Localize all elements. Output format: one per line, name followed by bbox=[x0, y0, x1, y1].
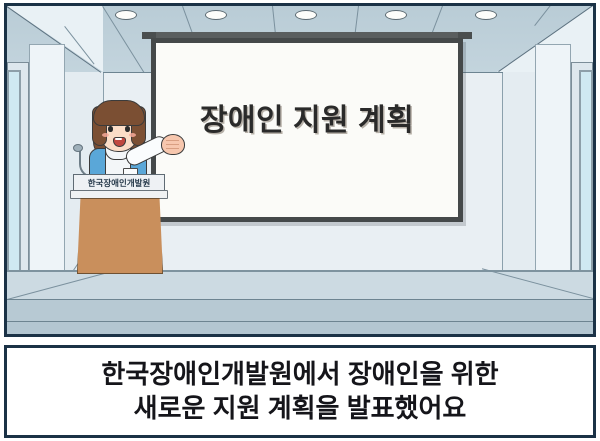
projection-screen: 장애인 지원 계획 bbox=[151, 38, 463, 222]
wall-panel-right bbox=[535, 44, 571, 282]
ceiling-light-icon bbox=[205, 10, 227, 20]
blush-left bbox=[102, 133, 109, 137]
microphone-head-icon bbox=[73, 144, 83, 152]
caption-line-2: 새로운 지원 계획을 발표했어요 bbox=[134, 392, 467, 425]
ceiling-light-icon bbox=[475, 10, 497, 20]
podium-body bbox=[77, 198, 163, 274]
screen-headline: 장애인 지원 계획 bbox=[156, 95, 458, 139]
caption-line-1: 한국장애인개발원에서 장애인을 위한 bbox=[101, 358, 498, 391]
wall-panel-left bbox=[29, 44, 65, 282]
ceiling-light-icon bbox=[385, 10, 407, 20]
hair-front bbox=[93, 100, 145, 126]
ceiling-light-icon bbox=[295, 10, 317, 20]
screenshot-root: 장애인 지원 계획 bbox=[0, 0, 600, 441]
conference-room-scene: 장애인 지원 계획 bbox=[7, 6, 593, 334]
window-glass-right bbox=[579, 70, 593, 276]
ceiling-light-icon bbox=[115, 10, 137, 20]
eye-right bbox=[125, 126, 130, 132]
eye-left bbox=[108, 126, 113, 132]
blush-right bbox=[129, 133, 136, 137]
floor-step-2 bbox=[7, 321, 593, 337]
speaker-and-podium: 한국장애인개발원 bbox=[65, 94, 195, 284]
window-glass-left bbox=[7, 70, 21, 276]
podium-sign-text: 한국장애인개발원 bbox=[88, 177, 151, 189]
gesturing-hand bbox=[161, 134, 185, 155]
illustration-panel: 장애인 지원 계획 bbox=[4, 3, 596, 337]
caption-panel: 한국장애인개발원에서 장애인을 위한 새로운 지원 계획을 발표했어요 bbox=[4, 345, 596, 438]
podium-top bbox=[70, 190, 168, 199]
